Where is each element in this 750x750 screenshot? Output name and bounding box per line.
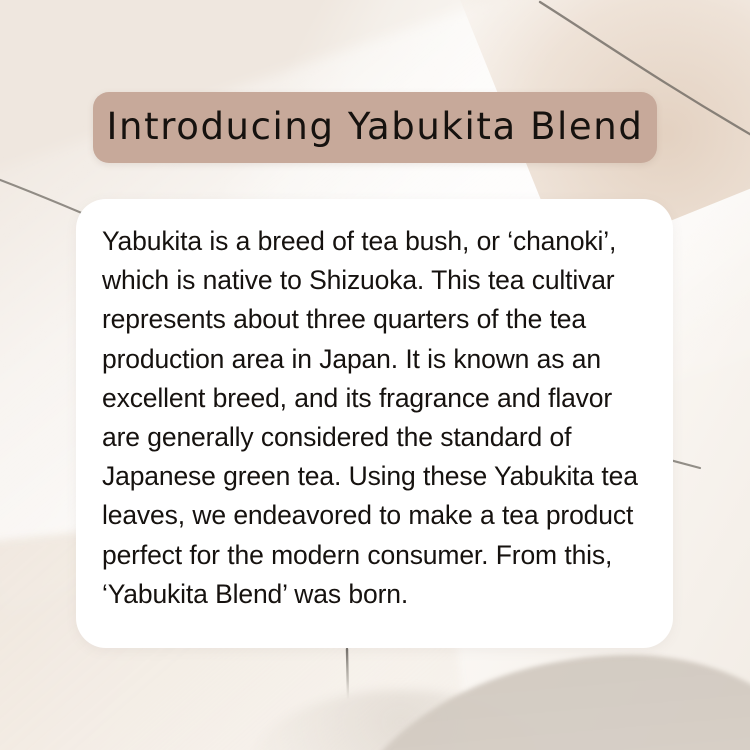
body-paragraph: Yabukita is a breed of tea bush, or ‘cha… bbox=[102, 222, 647, 614]
body-card: Yabukita is a breed of tea bush, or ‘cha… bbox=[76, 199, 673, 648]
page-title: Introducing Yabukita Blend bbox=[107, 108, 644, 145]
title-badge: Introducing Yabukita Blend bbox=[93, 92, 657, 163]
poster-canvas: Introducing Yabukita Blend Yabukita is a… bbox=[0, 0, 750, 750]
